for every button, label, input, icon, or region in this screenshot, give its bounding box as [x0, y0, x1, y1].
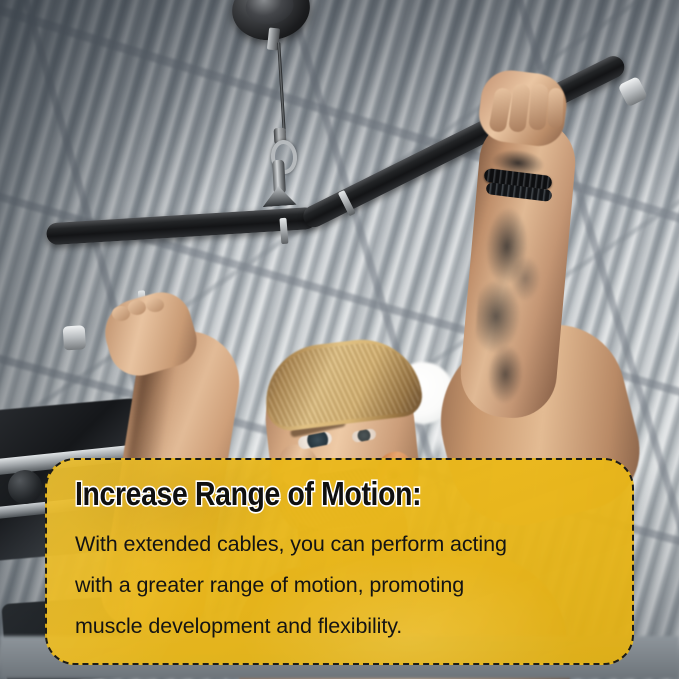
athlete-left-finger: [146, 298, 164, 312]
callout-headline: Increase Range of Motion:: [75, 474, 530, 514]
callout-body-line: muscle development and flexibility.: [75, 606, 604, 647]
athlete-arm-tattoo: [470, 188, 559, 413]
feature-callout-panel: Increase Range of Motion: With extended …: [45, 458, 634, 665]
athlete-right-finger: [528, 83, 548, 130]
callout-body-line: With extended cables, you can perform ac…: [75, 524, 604, 565]
lat-bar-end-cap-left: [63, 325, 86, 350]
callout-body-line: with a greater range of motion, promotin…: [75, 565, 604, 606]
product-feature-image: Increase Range of Motion: With extended …: [0, 0, 679, 679]
athlete-left-finger: [128, 300, 146, 315]
athlete-right-finger: [547, 88, 563, 128]
callout-body: With extended cables, you can perform ac…: [75, 524, 604, 647]
